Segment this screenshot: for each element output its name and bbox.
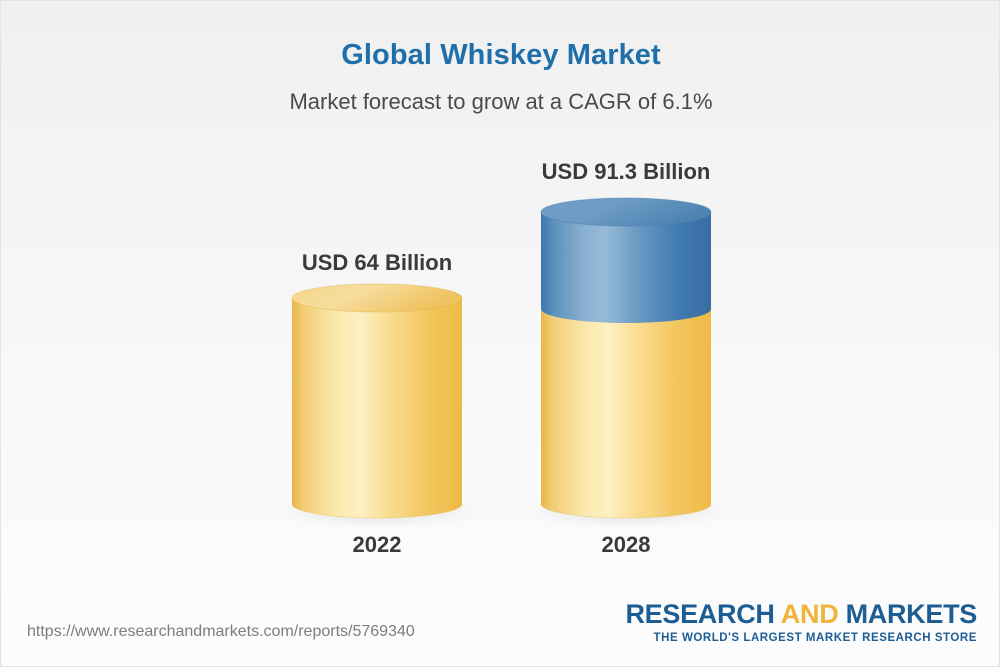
logo-tagline: THE WORLD'S LARGEST MARKET RESEARCH STOR… <box>625 633 977 645</box>
logo-word-markets: MARKETS <box>846 599 977 629</box>
logo-word-research: RESEARCH <box>625 599 774 629</box>
bar-2028 <box>541 198 711 518</box>
logo-wordmark: RESEARCH AND MARKETS <box>625 601 977 628</box>
value-label-2022: USD 64 Billion <box>277 250 477 276</box>
source-url[interactable]: https://www.researchandmarkets.com/repor… <box>27 623 415 641</box>
infographic-card: Global Whiskey Market Market forecast to… <box>0 0 1000 667</box>
category-label-2022: 2022 <box>277 532 477 558</box>
research-and-markets-logo[interactable]: RESEARCH AND MARKETS THE WORLD'S LARGEST… <box>625 601 977 645</box>
bar-2022 <box>292 284 462 518</box>
category-label-2028: 2028 <box>526 532 726 558</box>
cylinder-bar-chart <box>1 1 1000 667</box>
logo-word-and: AND <box>775 599 846 629</box>
value-label-2028: USD 91.3 Billion <box>526 159 726 185</box>
